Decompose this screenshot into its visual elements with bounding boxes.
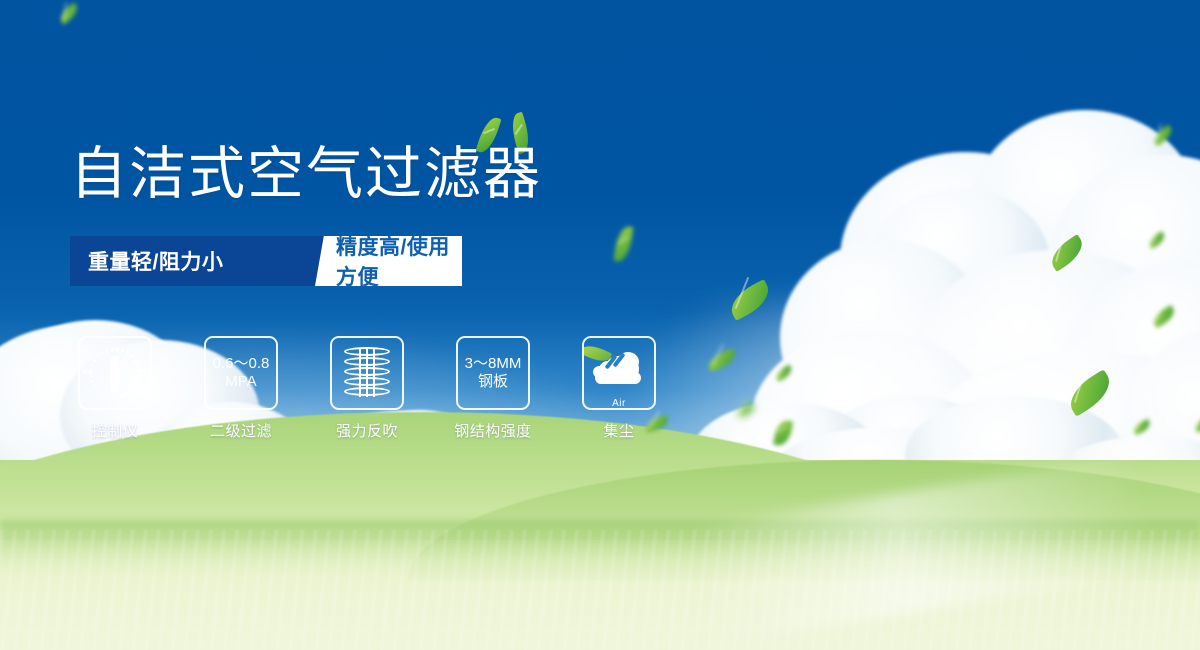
air-cloud-icon: Air: [591, 350, 647, 396]
feature-icon-box: NO OFF: [78, 336, 152, 410]
feature-icon-box: 0.6～0.8 MPA: [204, 336, 278, 410]
feature-icon-box: [330, 336, 404, 410]
feature-item-dust[interactable]: Air 集尘: [582, 336, 656, 441]
steel-thickness: 3～8MM: [465, 355, 522, 372]
feature-icon-box: 3～8MM 钢板: [456, 336, 530, 410]
subtitle-banner: 重量轻/阻力小 精度高/使用方便: [70, 236, 462, 286]
steel-text-icon: 3～8MM 钢板: [465, 355, 522, 391]
subtitle-right-text: 精度高/使用方便: [336, 236, 462, 286]
steel-material: 钢板: [465, 373, 522, 391]
gauge-off-label: OFF: [131, 391, 144, 397]
pressure-text-icon: 0.6～0.8 MPA: [213, 355, 270, 391]
page-title: 自洁式空气过滤器: [70, 144, 542, 204]
gauge-icon: NO OFF: [84, 344, 146, 402]
subtitle-left-text: 重量轻/阻力小: [88, 236, 223, 286]
feature-item-pressure[interactable]: 0.6～0.8 MPA 二级过滤: [204, 336, 278, 441]
feature-label: 集尘: [603, 420, 634, 441]
pressure-value: 0.6～0.8: [213, 355, 270, 372]
feature-item-blowback[interactable]: 强力反吹: [330, 336, 404, 441]
feature-label: 强力反吹: [336, 420, 398, 441]
feature-item-steel[interactable]: 3～8MM 钢板 钢结构强度: [456, 336, 530, 441]
air-label: Air: [591, 398, 647, 409]
hero-banner: 自洁式空气过滤器 重量轻/阻力小 精度高/使用方便 NO OFF 控制仪 0.6…: [0, 0, 1200, 650]
grass-field: [0, 460, 1200, 650]
feature-item-controller[interactable]: NO OFF 控制仪: [78, 336, 152, 441]
feature-label: 二级过滤: [210, 420, 272, 441]
pressure-unit: MPA: [213, 373, 270, 391]
feature-icon-box: Air: [582, 336, 656, 410]
feature-label: 控制仪: [92, 420, 139, 441]
feature-label: 钢结构强度: [454, 420, 532, 441]
feature-list: NO OFF 控制仪 0.6～0.8 MPA 二级过滤: [78, 336, 656, 441]
filter-stack-icon: [341, 345, 393, 401]
